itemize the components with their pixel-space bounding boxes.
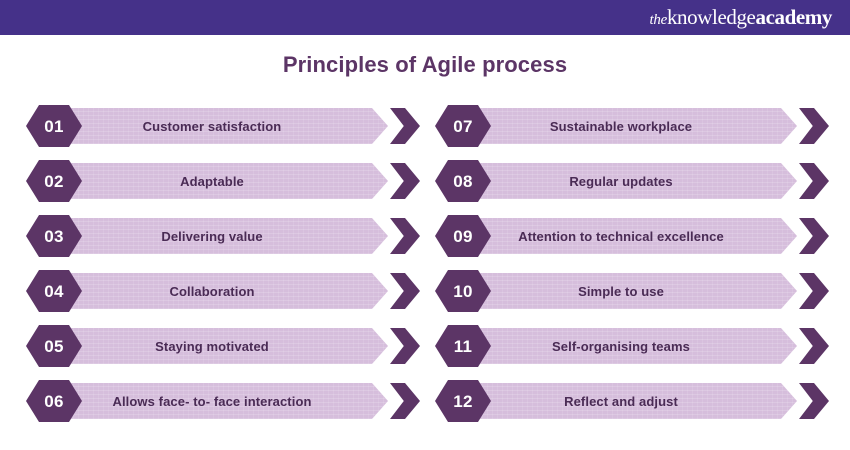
chevron-right-icon	[390, 328, 420, 364]
principle-band: Allows face- to- face interaction	[48, 383, 388, 419]
principle-label: Reflect and adjust	[564, 394, 690, 409]
principle-row[interactable]: Allows face- to- face interaction06	[26, 380, 426, 422]
chevron-right-icon	[799, 328, 829, 364]
chevron-right-icon	[390, 163, 420, 199]
principle-band: Collaboration	[48, 273, 388, 309]
principle-number: 10	[453, 283, 473, 300]
chevron-right-icon	[390, 218, 420, 254]
principles-column-left: Customer satisfaction01Adaptable02Delive…	[26, 105, 426, 445]
principles-column-right: Sustainable workplace07Regular updates08…	[435, 105, 835, 445]
principle-row[interactable]: Self-organising teams11	[435, 325, 835, 367]
principle-label: Staying motivated	[155, 339, 281, 354]
chevron-right-icon	[799, 383, 829, 419]
principle-band: Regular updates	[457, 163, 797, 199]
principle-row[interactable]: Staying motivated05	[26, 325, 426, 367]
principle-number: 12	[453, 393, 473, 410]
principle-number: 05	[44, 338, 64, 355]
page-title: Principles of Agile process	[0, 52, 850, 78]
principle-band: Simple to use	[457, 273, 797, 309]
principle-label: Attention to technical excellence	[518, 229, 736, 244]
principle-row[interactable]: Regular updates08	[435, 160, 835, 202]
principle-row[interactable]: Adaptable02	[26, 160, 426, 202]
principle-band: Adaptable	[48, 163, 388, 199]
header-bar: theknowledgeacademy	[0, 0, 850, 35]
chevron-right-icon	[390, 383, 420, 419]
principle-label: Self-organising teams	[552, 339, 702, 354]
principle-number: 07	[453, 118, 473, 135]
principle-number: 11	[454, 338, 473, 355]
principle-row[interactable]: Reflect and adjust12	[435, 380, 835, 422]
logo-the-text: the	[650, 13, 667, 28]
principle-number: 01	[44, 118, 64, 135]
principle-number: 02	[44, 173, 64, 190]
principle-label: Delivering value	[161, 229, 274, 244]
principle-label: Customer satisfaction	[143, 119, 294, 134]
principle-row[interactable]: Simple to use10	[435, 270, 835, 312]
principle-band: Staying motivated	[48, 328, 388, 364]
principle-band: Sustainable workplace	[457, 108, 797, 144]
chevron-right-icon	[799, 273, 829, 309]
principle-band: Self-organising teams	[457, 328, 797, 364]
principle-band: Reflect and adjust	[457, 383, 797, 419]
principle-number: 06	[44, 393, 64, 410]
principle-band: Attention to technical excellence	[457, 218, 797, 254]
principle-row[interactable]: Delivering value03	[26, 215, 426, 257]
brand-logo: theknowledgeacademy	[650, 7, 833, 28]
principle-label: Sustainable workplace	[550, 119, 704, 134]
principles-grid: Customer satisfaction01Adaptable02Delive…	[0, 105, 850, 445]
chevron-right-icon	[799, 108, 829, 144]
principle-label: Adaptable	[180, 174, 256, 189]
principle-number: 03	[44, 228, 64, 245]
principle-label: Simple to use	[578, 284, 676, 299]
principle-band: Delivering value	[48, 218, 388, 254]
chevron-right-icon	[799, 163, 829, 199]
principle-label: Collaboration	[169, 284, 266, 299]
principle-row[interactable]: Customer satisfaction01	[26, 105, 426, 147]
principle-label: Allows face- to- face interaction	[112, 394, 323, 409]
chevron-right-icon	[390, 108, 420, 144]
logo-knowledge-text: knowledge	[667, 7, 756, 28]
principle-number: 04	[44, 283, 64, 300]
principle-row[interactable]: Attention to technical excellence09	[435, 215, 835, 257]
chevron-right-icon	[799, 218, 829, 254]
principle-row[interactable]: Collaboration04	[26, 270, 426, 312]
logo-academy-text: academy	[755, 7, 832, 28]
principle-row[interactable]: Sustainable workplace07	[435, 105, 835, 147]
chevron-right-icon	[390, 273, 420, 309]
principle-label: Regular updates	[569, 174, 684, 189]
principle-band: Customer satisfaction	[48, 108, 388, 144]
principle-number: 09	[453, 228, 473, 245]
principle-number: 08	[453, 173, 473, 190]
